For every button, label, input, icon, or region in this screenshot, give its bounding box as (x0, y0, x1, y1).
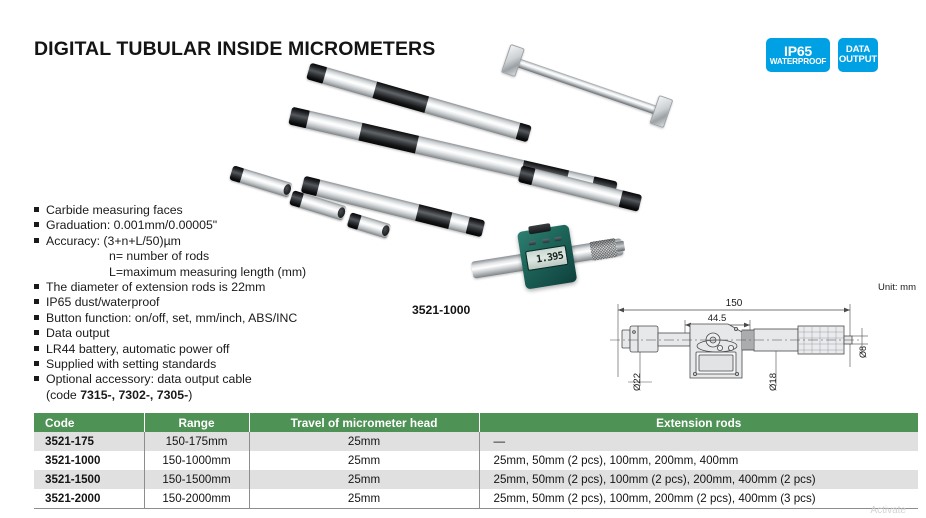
feature-item: Optional accessory: data output cable (34, 372, 379, 387)
setting-standard-head-right (649, 95, 673, 128)
page-title: DIGITAL TUBULAR INSIDE MICROMETERS (34, 38, 435, 61)
feature-item: Accuracy: (3+n+L/50)µm (34, 234, 379, 249)
bullet-square-icon (34, 222, 39, 227)
lcd-value: 1.395 (535, 250, 563, 265)
cell-range: 150-1000mm (144, 451, 249, 470)
technical-drawing: Unit: mm (600, 282, 920, 400)
dim-text-sleeve-diameter: Ø18 (768, 373, 779, 391)
setting-standard-photo (511, 57, 663, 117)
bullet-square-icon (34, 346, 39, 351)
bullet-square-icon (34, 207, 39, 212)
specification-table: Code Range Travel of micrometer head Ext… (34, 413, 918, 509)
feature-text: Supplied with setting standards (46, 357, 216, 372)
dim-text-tip-diameter: Ø8 (858, 346, 868, 358)
rod-band (372, 82, 429, 113)
table-row: 3521-175 150-175mm 25mm — (34, 432, 918, 451)
bullet-square-icon (34, 330, 39, 335)
column-header-travel: Travel of micrometer head (249, 413, 479, 432)
extension-rod-photo-4 (229, 165, 293, 197)
cell-extension-rods: 25mm, 50mm (2 pcs), 100mm, 200mm, 400mm (479, 451, 918, 470)
badge-ip65-line1: IP65 (784, 44, 812, 58)
button-mode (554, 236, 562, 241)
bullet-square-icon (34, 284, 39, 289)
feature-text: Accuracy: (3+n+L/50)µm (46, 234, 181, 249)
cell-range: 150-175mm (144, 432, 249, 451)
feature-list: Carbide measuring faces Graduation: 0.00… (34, 203, 379, 403)
bullet-square-icon (34, 238, 39, 243)
rod-cap-right (619, 190, 643, 211)
button-onoff (542, 238, 550, 243)
feature-text: LR44 battery, automatic power off (46, 342, 229, 357)
feature-text: IP65 dust/waterproof (46, 295, 159, 310)
cell-extension-rods: 25mm, 50mm (2 pcs), 100mm, 200mm (2 pcs)… (479, 489, 918, 508)
accessory-suffix: ) (188, 388, 192, 402)
bullet-square-icon (34, 376, 39, 381)
cell-travel: 25mm (249, 451, 479, 470)
bullet-square-icon (34, 361, 39, 366)
feature-text: Optional accessory: data output cable (46, 372, 252, 387)
table-row: 3521-2000 150-2000mm 25mm 25mm, 50mm (2 … (34, 489, 918, 508)
product-caption: 3521-1000 (412, 303, 470, 317)
feature-item: The diameter of extension rods is 22mm (34, 280, 379, 295)
cell-range: 150-2000mm (144, 489, 249, 508)
table-row: 3521-1000 150-1000mm 25mm 25mm, 50mm (2 … (34, 451, 918, 470)
feature-item: IP65 dust/waterproof (34, 295, 379, 310)
feature-subtext: L=maximum measuring length (mm) (34, 265, 379, 280)
bullet-square-icon (34, 299, 39, 304)
setting-standard-bar (511, 57, 663, 117)
watermark-text: Activate (870, 505, 906, 516)
cell-extension-rods: — (479, 432, 918, 451)
micrometer-thimble-knurl (589, 238, 618, 261)
feature-item: Data output (34, 326, 379, 341)
cell-code: 3521-2000 (34, 489, 144, 508)
feature-text: The diameter of extension rods is 22mm (46, 280, 265, 295)
accessory-code-line: (code 7315-, 7302-, 7305-) (34, 388, 379, 403)
column-header-range: Range (144, 413, 249, 432)
badge-ip65-line2: WATERPROOF (770, 58, 827, 66)
badge-group: IP65 WATERPROOF DATA OUTPUT (766, 38, 878, 72)
battery-cap (528, 223, 551, 234)
table-header-row: Code Range Travel of micrometer head Ext… (34, 413, 918, 432)
bullet-square-icon (34, 315, 39, 320)
feature-text: Button function: on/off, set, mm/inch, A… (46, 311, 297, 326)
badge-data-output: DATA OUTPUT (838, 38, 878, 72)
rod-band (358, 123, 419, 154)
column-header-code: Code (34, 413, 144, 432)
feature-text: Data output (46, 326, 110, 341)
column-header-extension-rods: Extension rods (479, 413, 918, 432)
feature-item: Button function: on/off, set, mm/inch, A… (34, 311, 379, 326)
cell-code: 3521-175 (34, 432, 144, 451)
lcd-display: 1.395 (525, 245, 569, 271)
feature-item: LR44 battery, automatic power off (34, 342, 379, 357)
cell-range: 150-1500mm (144, 470, 249, 489)
feature-text: Graduation: 0.001mm/0.00005" (46, 218, 217, 233)
feature-subtext: n= number of rods (34, 249, 379, 264)
badge-data-line2: OUTPUT (839, 55, 877, 65)
table-row: 3521-1500 150-1500mm 25mm 25mm, 50mm (2 … (34, 470, 918, 489)
dim-text-head-length: 44.5 (708, 313, 727, 324)
cell-travel: 25mm (249, 432, 479, 451)
micrometer-display-body: 1.395 (517, 224, 577, 289)
micrometer-tip (616, 241, 625, 252)
dim-text-overall-length: 150 (726, 298, 743, 309)
feature-item: Supplied with setting standards (34, 357, 379, 372)
feature-item: Carbide measuring faces (34, 203, 379, 218)
cell-extension-rods: 25mm, 50mm (2 pcs), 100mm (2 pcs), 200mm… (479, 470, 918, 489)
dim-text-rod-diameter: Ø22 (632, 373, 643, 391)
button-set (529, 241, 537, 246)
technical-drawing-svg: 150 44.5 Ø22 Ø18 Ø8 (600, 282, 920, 400)
cell-code: 3521-1000 (34, 451, 144, 470)
feature-text: Carbide measuring faces (46, 203, 183, 218)
rod-band (415, 204, 452, 229)
cell-code: 3521-1500 (34, 470, 144, 489)
cell-travel: 25mm (249, 489, 479, 508)
accessory-codes: 7315-, 7302-, 7305- (80, 388, 188, 402)
badge-ip65-waterproof: IP65 WATERPROOF (766, 38, 830, 72)
feature-item: Graduation: 0.001mm/0.00005" (34, 218, 379, 233)
unit-label: Unit: mm (878, 282, 916, 293)
cell-travel: 25mm (249, 470, 479, 489)
accessory-prefix: (code (46, 388, 80, 402)
